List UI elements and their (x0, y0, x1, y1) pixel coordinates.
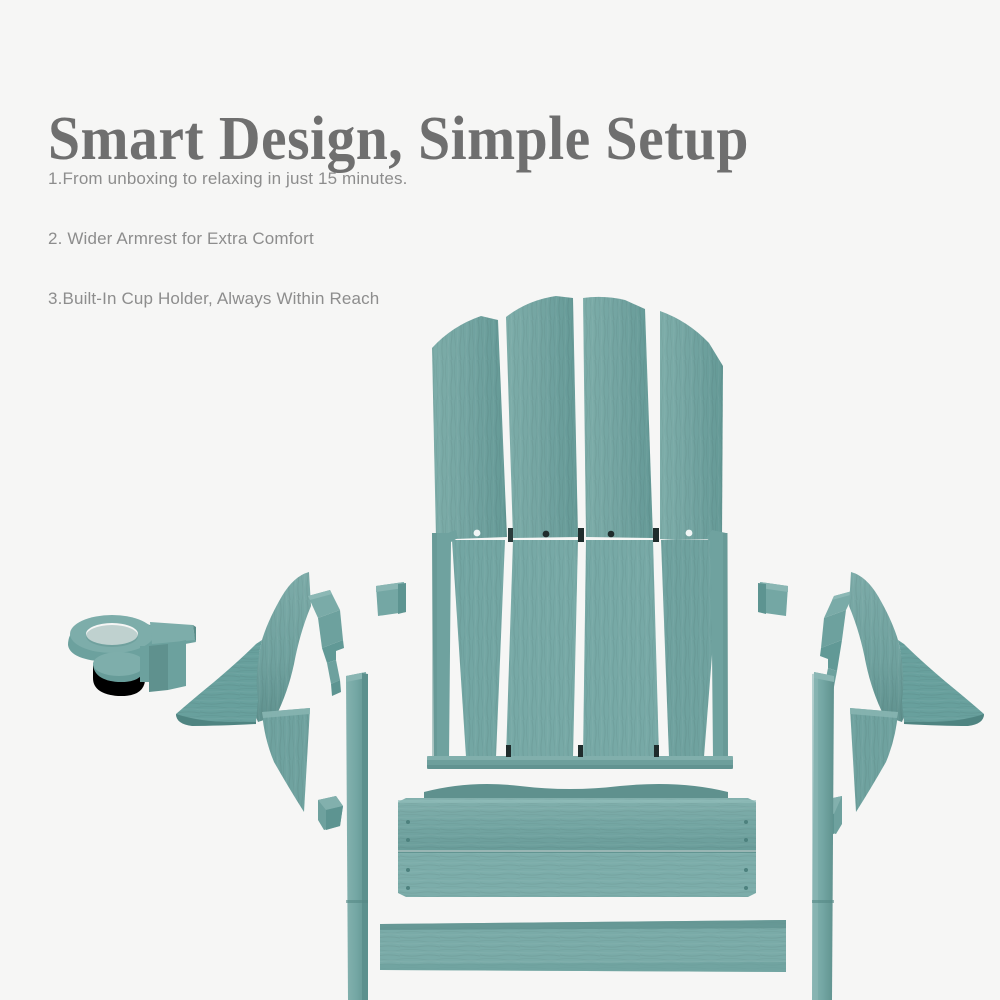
back-slat-3-lower (583, 540, 659, 757)
armrest-right (849, 572, 984, 726)
right-side-parts (758, 572, 984, 1000)
left-side-parts (68, 572, 406, 1000)
product-infographic-page: Smart Design, Simple Setup 1.From unboxi… (0, 0, 1000, 1000)
page-title: Smart Design, Simple Setup (48, 104, 749, 174)
front-leg-left (346, 672, 368, 1000)
spacer-block-left (376, 582, 406, 616)
front-apron-plank (380, 920, 786, 972)
back-crossbar-bottom (427, 756, 733, 769)
rear-support-right (850, 708, 898, 812)
back-slat-1 (432, 316, 507, 539)
rear-support-left (262, 708, 310, 812)
back-slat-4 (660, 311, 723, 540)
seat-assembly (380, 784, 786, 972)
back-slat-1-lower (452, 540, 505, 757)
armrest-support-left (308, 590, 344, 696)
feature-item-1: 1.From unboxing to relaxing in just 15 m… (48, 168, 668, 190)
back-slat-2-lower (506, 540, 578, 757)
small-block-left (318, 796, 343, 830)
feature-item-2: 2. Wider Armrest for Extra Comfort (48, 228, 668, 250)
front-leg-right (812, 672, 834, 1000)
seat-plank-top (398, 798, 756, 850)
armrest-left (176, 572, 311, 726)
spacer-block-right (758, 582, 788, 616)
seat-plank-bottom (398, 850, 756, 897)
chair-back-assembly (427, 296, 733, 769)
feature-item-3: 3.Built-In Cup Holder, Always Within Rea… (48, 288, 668, 310)
back-slat-fasteners (474, 528, 693, 757)
seat-back-edge-strip (424, 784, 728, 800)
feature-list: 1.From unboxing to relaxing in just 15 m… (48, 168, 668, 348)
